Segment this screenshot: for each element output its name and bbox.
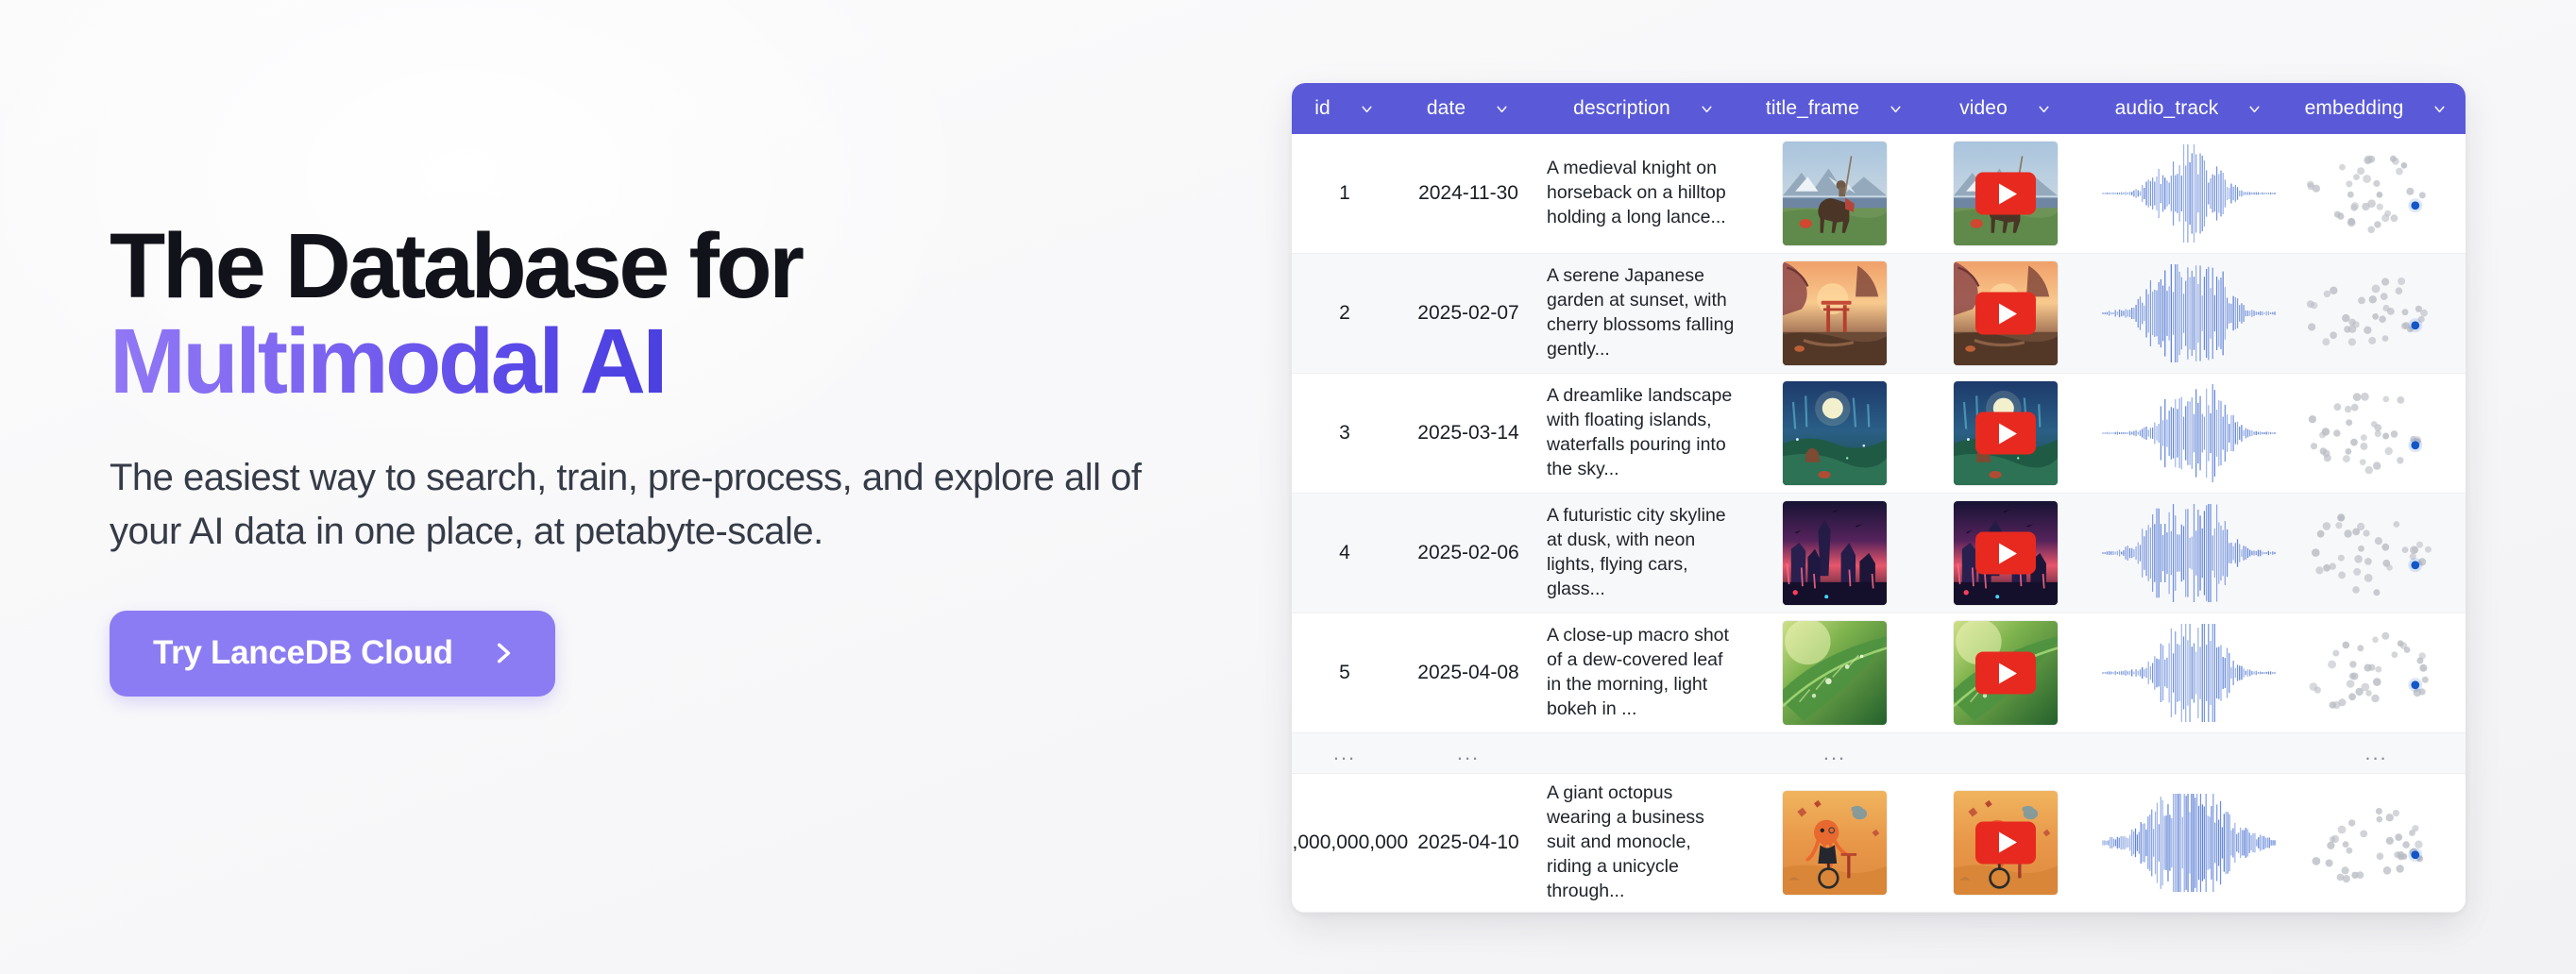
cell-id: 1,000,000,000 <box>1292 824 1398 862</box>
table-row[interactable]: 5 2025-04-08 A close-up macro shot of a … <box>1292 613 2466 733</box>
column-header-embedding[interactable]: embedding <box>2287 83 2466 134</box>
japanese-garden-sunset-thumbnail[interactable] <box>1783 261 1887 365</box>
hero-subtitle: The easiest way to search, train, pre-pr… <box>110 451 1205 559</box>
column-header-description[interactable]: description <box>1539 83 1749 134</box>
table-row[interactable]: 1,000,000,000 2025-04-10 A giant octopus… <box>1292 774 2466 913</box>
waveform-wide-double-lobe <box>2099 504 2279 602</box>
cell-title-frame[interactable] <box>1749 783 1921 902</box>
cell-title-frame[interactable] <box>1749 613 1921 732</box>
scatter-plot-highlight <box>2296 383 2457 483</box>
octopus-unicycle-video-thumbnail[interactable] <box>1954 791 2058 895</box>
scatter-plot-highlight <box>2296 263 2457 363</box>
cell-audio-track[interactable] <box>2091 257 2287 370</box>
cell-id: 4 <box>1292 534 1398 572</box>
cell-title-frame-ellipsis: ... <box>1749 733 1921 773</box>
cell-embedding[interactable] <box>2287 785 2466 900</box>
cell-audio-track[interactable] <box>2091 377 2287 490</box>
cell-audio-track[interactable] <box>2091 786 2287 899</box>
cell-embedding[interactable] <box>2287 615 2466 730</box>
chevron-down-icon[interactable] <box>1494 101 1510 117</box>
page-title: The Database for Multimodal AI <box>110 219 1224 410</box>
cell-description: A futuristic city skyline at dusk, with … <box>1539 496 1749 610</box>
cell-date: 2025-04-10 <box>1398 824 1539 862</box>
cell-description-ellipsis <box>1539 746 1749 761</box>
futuristic-city-dusk-thumbnail[interactable] <box>1783 501 1887 605</box>
dreamlike-moonlit-landscape-thumbnail[interactable] <box>1783 381 1887 485</box>
landing-page-hero: The Database for Multimodal AI The easie… <box>0 0 2576 974</box>
cell-embedding-ellipsis: ... <box>2287 733 2466 773</box>
table-row[interactable]: 3 2025-03-14 A dreamlike landscape with … <box>1292 374 2466 494</box>
cell-date: 2024-11-30 <box>1398 175 1539 212</box>
table-row[interactable]: 4 2025-02-06 A futuristic city skyline a… <box>1292 494 2466 613</box>
waveform-sharp-center-peak <box>2099 144 2279 243</box>
cell-embedding[interactable] <box>2287 256 2466 371</box>
hero-section: The Database for Multimodal AI The easie… <box>110 219 1224 697</box>
cell-date: 2025-02-06 <box>1398 534 1539 572</box>
table-row[interactable]: 2 2025-02-07 A serene Japanese garden at… <box>1292 254 2466 374</box>
cell-description: A serene Japanese garden at sunset, with… <box>1539 257 1749 370</box>
column-header-id[interactable]: id <box>1292 83 1398 134</box>
cell-audio-track[interactable] <box>2091 496 2287 610</box>
column-header-video[interactable]: video <box>1921 83 2091 134</box>
octopus-unicycle-thumbnail[interactable] <box>1783 791 1887 895</box>
play-button-icon[interactable] <box>1975 532 2036 575</box>
table-row[interactable]: 1 2024-11-30 A medieval knight on horseb… <box>1292 134 2466 254</box>
cell-id: 5 <box>1292 654 1398 692</box>
cell-video[interactable] <box>1921 374 2091 493</box>
cell-title-frame[interactable] <box>1749 134 1921 253</box>
cell-audio-track-ellipsis <box>2091 746 2287 761</box>
chevron-down-icon[interactable] <box>2246 101 2262 117</box>
cell-title-frame[interactable] <box>1749 494 1921 613</box>
cell-description: A giant octopus wearing a business suit … <box>1539 774 1749 912</box>
scatter-plot-highlight <box>2296 503 2457 603</box>
column-header-label: video <box>1959 97 2008 120</box>
play-button-icon[interactable] <box>1975 173 2036 215</box>
cell-title-frame[interactable] <box>1749 374 1921 493</box>
waveform-narrow-burst <box>2099 384 2279 482</box>
chevron-down-icon[interactable] <box>2432 101 2448 117</box>
cell-title-frame[interactable] <box>1749 254 1921 373</box>
column-header-audio-track[interactable]: audio_track <box>2091 83 2287 134</box>
cell-id: 3 <box>1292 414 1398 452</box>
column-header-title-frame[interactable]: title_frame <box>1749 83 1921 134</box>
column-header-label: id <box>1314 97 1330 120</box>
cell-video[interactable] <box>1921 494 2091 613</box>
hero-title-line-2: Multimodal AI <box>110 314 665 410</box>
cell-id-ellipsis: ... <box>1292 733 1398 773</box>
chevron-down-icon[interactable] <box>1359 101 1375 117</box>
play-button-icon[interactable] <box>1975 821 2036 864</box>
cell-video[interactable] <box>1921 783 2091 902</box>
cell-audio-track[interactable] <box>2091 616 2287 730</box>
table-row-ellipsis[interactable]: ... ... ... ... <box>1292 733 2466 774</box>
cell-description: A close-up macro shot of a dew-covered l… <box>1539 616 1749 730</box>
column-header-label: audio_track <box>2115 97 2219 120</box>
play-button-icon[interactable] <box>1975 652 2036 695</box>
cell-date-ellipsis: ... <box>1398 733 1539 773</box>
column-header-label: description <box>1573 97 1670 120</box>
cell-audio-track[interactable] <box>2091 137 2287 250</box>
cell-video[interactable] <box>1921 254 2091 373</box>
cell-embedding[interactable] <box>2287 495 2466 611</box>
column-header-label: title_frame <box>1766 97 1859 120</box>
cell-video[interactable] <box>1921 613 2091 732</box>
japanese-garden-video-thumbnail[interactable] <box>1954 261 2058 365</box>
cell-date: 2025-03-14 <box>1398 414 1539 452</box>
knight-video-thumbnail[interactable] <box>1954 142 2058 245</box>
cell-date: 2025-04-08 <box>1398 654 1539 692</box>
cell-date: 2025-02-07 <box>1398 294 1539 332</box>
cell-embedding[interactable] <box>2287 376 2466 491</box>
dew-covered-leaf-thumbnail[interactable] <box>1783 621 1887 725</box>
chevron-right-icon <box>491 639 516 667</box>
column-header-label: embedding <box>2305 97 2404 120</box>
cell-video-ellipsis <box>1921 746 2091 761</box>
chevron-down-icon[interactable] <box>2036 101 2052 117</box>
cell-description: A medieval knight on horseback on a hill… <box>1539 149 1749 238</box>
dew-leaf-video-thumbnail[interactable] <box>1954 621 2058 725</box>
scatter-plot-highlight <box>2296 623 2457 723</box>
chevron-down-icon[interactable] <box>1888 101 1904 117</box>
knight-on-horseback-thumbnail[interactable] <box>1783 142 1887 245</box>
dreamlike-landscape-video-thumbnail[interactable] <box>1954 381 2058 485</box>
cell-id: 2 <box>1292 294 1398 332</box>
waveform-double-lobe <box>2099 264 2279 362</box>
play-button-icon[interactable] <box>1975 412 2036 455</box>
cell-description: A dreamlike landscape with floating isla… <box>1539 377 1749 490</box>
hero-title-line-1: The Database for <box>110 214 802 317</box>
column-header-label: date <box>1427 97 1466 120</box>
multimodal-data-table-card: id date description title_frame video au… <box>1292 83 2466 913</box>
chevron-down-icon[interactable] <box>1699 101 1715 117</box>
scatter-plot-highlight <box>2296 793 2457 893</box>
waveform-rising-lobe <box>2099 624 2279 722</box>
cell-video[interactable] <box>1921 134 2091 253</box>
waveform-dense-noise <box>2099 794 2279 892</box>
column-header-date[interactable]: date <box>1398 83 1539 134</box>
futuristic-city-video-thumbnail[interactable] <box>1954 501 2058 605</box>
try-lancedb-cloud-button[interactable]: Try LanceDB Cloud <box>110 611 555 697</box>
scatter-plot-highlight <box>2296 143 2457 243</box>
cell-embedding[interactable] <box>2287 136 2466 251</box>
play-button-icon[interactable] <box>1975 293 2036 335</box>
cell-id: 1 <box>1292 175 1398 212</box>
cta-label: Try LanceDB Cloud <box>153 634 453 672</box>
table-body: 1 2024-11-30 A medieval knight on horseb… <box>1292 134 2466 913</box>
table-header-row: id date description title_frame video au… <box>1292 83 2466 134</box>
